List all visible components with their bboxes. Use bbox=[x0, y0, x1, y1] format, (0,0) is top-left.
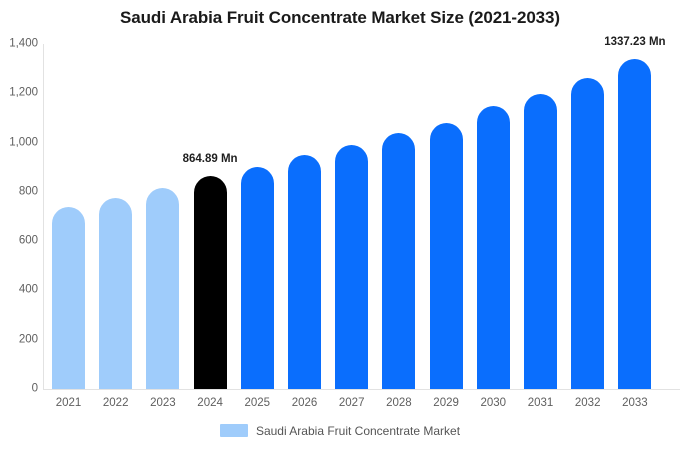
chart-title: Saudi Arabia Fruit Concentrate Market Si… bbox=[0, 8, 680, 28]
x-axis-tick-label: 2033 bbox=[618, 398, 651, 410]
x-axis-tick-label: 2023 bbox=[146, 398, 179, 410]
y-axis-tick-label: 400 bbox=[4, 285, 38, 297]
y-axis-tick-label: 600 bbox=[4, 235, 38, 247]
y-axis-tick-label: 1,400 bbox=[4, 38, 38, 50]
bar[interactable] bbox=[146, 188, 179, 389]
y-axis-tick-label: 0 bbox=[4, 383, 38, 395]
y-axis-tick-label: 1,200 bbox=[4, 88, 38, 100]
x-axis-tick-label: 2021 bbox=[52, 398, 85, 410]
bar[interactable] bbox=[335, 145, 368, 389]
x-axis-tick-label: 2022 bbox=[99, 398, 132, 410]
x-axis-tick-label: 2028 bbox=[382, 398, 415, 410]
bar[interactable] bbox=[52, 207, 85, 389]
legend-item-label: Saudi Arabia Fruit Concentrate Market bbox=[256, 425, 460, 437]
bar[interactable] bbox=[618, 59, 651, 389]
bar[interactable] bbox=[477, 106, 510, 389]
x-axis-tick-label: 2027 bbox=[335, 398, 368, 410]
x-axis-tick-label: 2025 bbox=[241, 398, 274, 410]
x-axis-line bbox=[43, 389, 680, 390]
y-axis: 02004006008001,0001,2001,400 bbox=[0, 0, 38, 450]
bar[interactable] bbox=[241, 167, 274, 389]
bar-value-label: 864.89 Mn bbox=[183, 154, 238, 166]
bar[interactable] bbox=[524, 94, 557, 389]
bar-value-label: 1337.23 Mn bbox=[604, 37, 665, 49]
x-axis-tick-label: 2031 bbox=[524, 398, 557, 410]
bar[interactable] bbox=[382, 133, 415, 389]
x-axis-tick-label: 2030 bbox=[477, 398, 510, 410]
y-axis-tick-label: 1,000 bbox=[4, 137, 38, 149]
bar[interactable] bbox=[99, 198, 132, 389]
bar[interactable] bbox=[430, 123, 463, 389]
plot-area bbox=[43, 44, 680, 389]
x-axis-tick-label: 2026 bbox=[288, 398, 321, 410]
bar[interactable] bbox=[288, 155, 321, 389]
y-axis-tick-label: 800 bbox=[4, 186, 38, 198]
bar[interactable] bbox=[571, 78, 604, 389]
x-axis-tick-label: 2032 bbox=[571, 398, 604, 410]
x-axis-tick-label: 2029 bbox=[430, 398, 463, 410]
legend-swatch-icon bbox=[220, 424, 248, 437]
bar-chart: Saudi Arabia Fruit Concentrate Market Si… bbox=[0, 0, 680, 450]
x-axis-tick-label: 2024 bbox=[194, 398, 227, 410]
bar[interactable] bbox=[194, 176, 227, 389]
chart-legend: Saudi Arabia Fruit Concentrate Market bbox=[0, 424, 680, 437]
y-axis-tick-label: 200 bbox=[4, 334, 38, 346]
